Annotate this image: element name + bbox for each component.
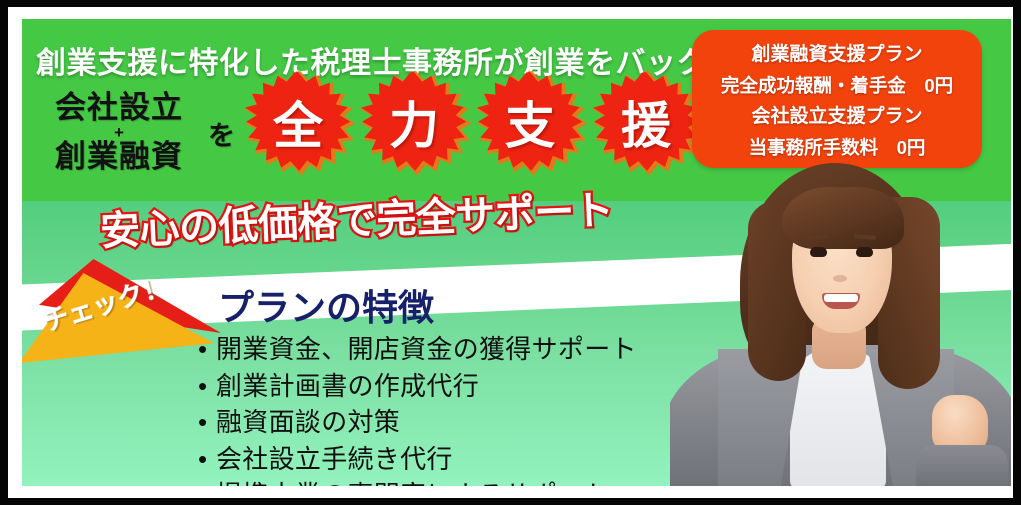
white-shirt xyxy=(790,349,886,486)
artwork-area: 創業支援に特化した税理士事務所が創業をバックアップ。 会社設立 + 創業融資 を… xyxy=(22,19,1011,486)
starburst-badge-1: 全 xyxy=(244,72,352,180)
features-section-title: プランの特徴 xyxy=(218,279,434,331)
bullet-icon: • xyxy=(198,477,216,486)
starburst-char-3: 支 xyxy=(505,101,555,151)
bullet-icon: • xyxy=(198,331,216,368)
bullet-icon: • xyxy=(198,368,216,405)
feature-text-4: 会社設立手続き代行 xyxy=(216,444,453,474)
eye-right xyxy=(856,247,873,257)
plan-name-incorporation: 会社設立支援プラン xyxy=(700,101,974,132)
nose xyxy=(833,275,847,282)
plan-price-financing: 完全成功報酬・着手金 0円 xyxy=(700,70,974,101)
feature-text-2: 創業計画書の作成代行 xyxy=(216,371,479,401)
jacket-sleeve xyxy=(916,445,1008,486)
list-item: •創業計画書の作成代行 xyxy=(198,368,637,405)
plus-sign: + xyxy=(34,125,204,140)
bullet-icon: • xyxy=(198,404,216,441)
list-item: •融資面談の対策 xyxy=(198,404,637,441)
starburst-badge-3: 支 xyxy=(476,72,584,180)
plan-pricing-box: 創業融資支援プラン 完全成功報酬・着手金 0円 会社設立支援プラン 当事務所手数… xyxy=(692,30,982,168)
starburst-char-2: 力 xyxy=(389,101,439,151)
plan-name-financing: 創業融資支援プラン xyxy=(700,39,974,70)
feature-text-3: 融資面談の対策 xyxy=(216,407,400,437)
bullet-icon: • xyxy=(198,441,216,478)
banner-root: 創業支援に特化した税理士事務所が創業をバックアップ。 会社設立 + 創業融資 を… xyxy=(0,0,1021,505)
starburst-char-1: 全 xyxy=(273,101,323,151)
feature-text-1: 開業資金、開店資金の獲得サポート xyxy=(216,334,637,364)
list-item: •会社設立手続き代行 xyxy=(198,441,637,478)
eye-left xyxy=(810,247,827,257)
hair-fringe xyxy=(782,187,904,249)
service-line-startup-financing: 創業融資 xyxy=(34,140,204,174)
service-line-company-formation: 会社設立 xyxy=(34,91,204,125)
left-service-stack: 会社設立 + 創業融資 xyxy=(34,91,204,174)
list-item: •開業資金、開店資金の獲得サポート xyxy=(198,331,637,368)
smiling-mouth xyxy=(822,293,860,309)
list-item: •提携士業の専門家によるサポート xyxy=(198,477,637,486)
starburst-badge-2: 力 xyxy=(360,72,468,180)
starburst-badge-row: 全 力 支 援 xyxy=(244,72,700,180)
teeth xyxy=(824,294,858,302)
businesswoman-photo xyxy=(670,149,1011,486)
starburst-char-4: 援 xyxy=(621,101,671,151)
particle-wo: を xyxy=(208,114,235,153)
features-list: •開業資金、開店資金の獲得サポート •創業計画書の作成代行 •融資面談の対策 •… xyxy=(198,331,637,486)
feature-text-5: 提携士業の専門家によるサポート xyxy=(216,480,610,486)
